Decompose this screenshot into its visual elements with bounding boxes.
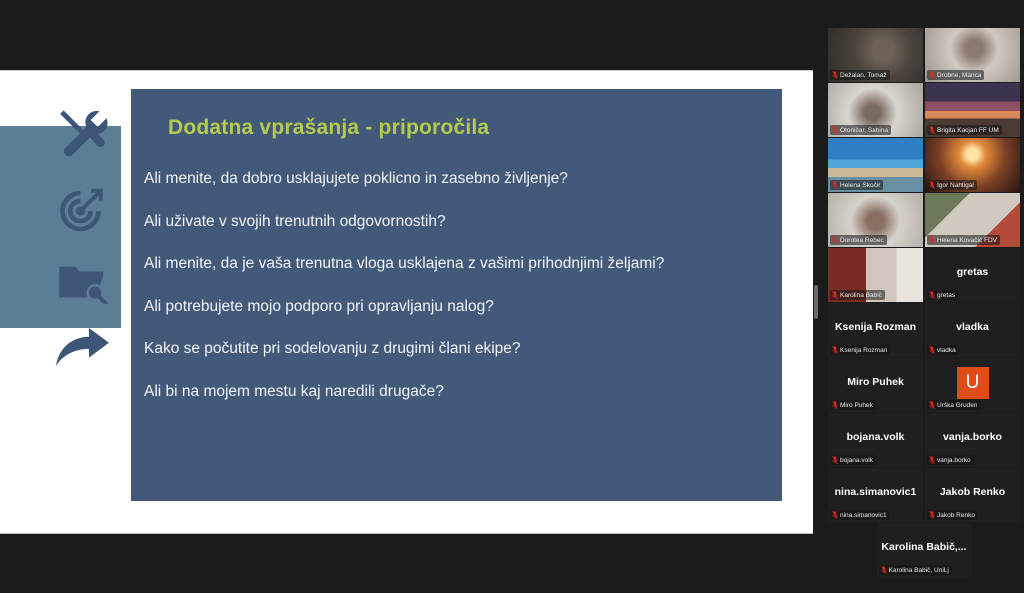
participant-name-label: Karolina Babič, UniLj bbox=[879, 565, 952, 575]
participant-name-text: Miro Puhek bbox=[840, 402, 873, 409]
participant-name-text: Jakob Renko bbox=[937, 512, 975, 519]
participant-tile[interactable]: Helena Skočir bbox=[828, 138, 923, 192]
slide-question: Ali bi na mojem mestu kaj naredili druga… bbox=[144, 384, 768, 400]
participant-name-text: vladka bbox=[937, 347, 956, 354]
participant-tile[interactable]: Karolina Babič bbox=[828, 248, 923, 302]
participant-tile[interactable]: Miro PuhekMiro Puhek bbox=[828, 358, 923, 412]
roster-row: Miro PuhekMiro PuhekUUrška Gruden bbox=[828, 358, 1020, 412]
roster-row: Helena SkočirIgor Nahtigal bbox=[828, 138, 1020, 192]
stage-top-divider bbox=[0, 70, 816, 71]
participant-tile[interactable]: gretasgretas bbox=[925, 248, 1020, 302]
shared-screen-stage: Dodatna vprašanja - priporočila Ali meni… bbox=[0, 70, 816, 534]
participant-name-label: Otoničar, Sabina bbox=[830, 125, 891, 135]
roster-row: bojana.volkbojana.volkvanja.borkovanja.b… bbox=[828, 413, 1020, 467]
participant-tile[interactable]: Brigita Kacjan FF UM bbox=[925, 83, 1020, 137]
participant-name-text: Ksenija Rozman bbox=[840, 347, 887, 354]
participant-tile[interactable]: vladkavladka bbox=[925, 303, 1020, 357]
participant-name-text: Drobne, Manca bbox=[937, 72, 981, 79]
mic-muted-icon bbox=[832, 71, 838, 79]
participant-name-text: Dežalan, Tomaž bbox=[840, 72, 887, 79]
participant-tile[interactable]: bojana.volkbojana.volk bbox=[828, 413, 923, 467]
mic-muted-icon bbox=[929, 346, 935, 354]
participant-name-text: Brigita Kacjan FF UM bbox=[937, 127, 999, 134]
participant-name-label: Helena Kovačič FDV bbox=[927, 235, 1000, 245]
mic-muted-icon bbox=[929, 126, 935, 134]
participant-tile[interactable]: Helena Kovačič FDV bbox=[925, 193, 1020, 247]
folder-search-icon bbox=[56, 260, 108, 304]
participant-name-label: Karolina Babič bbox=[830, 290, 885, 300]
participant-name-label: Dežalan, Tomaž bbox=[830, 70, 890, 80]
roster-row: Ksenija RozmanKsenija Rozmanvladkavladka bbox=[828, 303, 1020, 357]
slide-title: Dodatna vprašanja - priporočila bbox=[168, 116, 489, 140]
roster-row: nina.simanovic1nina.simanovic1Jakob Renk… bbox=[828, 468, 1020, 522]
participant-tile[interactable]: Otoničar, Sabina bbox=[828, 83, 923, 137]
roster-row: Dorotea RebecHelena Kovačič FDV bbox=[828, 193, 1020, 247]
participant-name-text: Dorotea Rebec bbox=[840, 237, 884, 244]
mic-muted-icon bbox=[832, 401, 838, 409]
participant-tile[interactable]: Igor Nahtigal bbox=[925, 138, 1020, 192]
mic-muted-icon bbox=[929, 456, 935, 464]
participant-tile[interactable]: nina.simanovic1nina.simanovic1 bbox=[828, 468, 923, 522]
participant-name-label: Helena Skočir bbox=[830, 180, 883, 190]
slide-question: Ali menite, da je vaša trenutna vloga us… bbox=[144, 256, 768, 272]
participant-name-label: nina.simanovic1 bbox=[830, 510, 890, 520]
participant-name-label: Ksenija Rozman bbox=[830, 345, 890, 355]
mic-muted-icon bbox=[929, 181, 935, 189]
participant-roster[interactable]: Dežalan, TomažDrobne, MancaOtoničar, Sab… bbox=[828, 28, 1020, 583]
participant-tile[interactable]: Jakob RenkoJakob Renko bbox=[925, 468, 1020, 522]
mic-muted-icon bbox=[929, 236, 935, 244]
participant-name-label: Drobne, Manca bbox=[927, 70, 984, 80]
mic-muted-icon bbox=[929, 71, 935, 79]
participant-name-label: Dorotea Rebec bbox=[830, 235, 887, 245]
slide-question-list: Ali menite, da dobro usklajujete poklicn… bbox=[144, 171, 768, 426]
slide-question: Kako se počutite pri sodelovanju z drugi… bbox=[144, 341, 768, 357]
mic-muted-icon bbox=[832, 456, 838, 464]
participant-name-label: bojana.volk bbox=[830, 455, 876, 465]
participant-name-text: Helena Kovačič FDV bbox=[937, 237, 997, 244]
participant-name-label: Urška Gruden bbox=[927, 400, 980, 410]
mic-muted-icon bbox=[832, 291, 838, 299]
participant-name-text: Otoničar, Sabina bbox=[840, 127, 888, 134]
participant-name-text: Karolina Babič, UniLj bbox=[889, 567, 949, 574]
roster-row: Otoničar, SabinaBrigita Kacjan FF UM bbox=[828, 83, 1020, 137]
mic-muted-icon bbox=[832, 126, 838, 134]
participant-name-label: Miro Puhek bbox=[830, 400, 876, 410]
participant-tile[interactable]: UUrška Gruden bbox=[925, 358, 1020, 412]
participant-tile[interactable]: Drobne, Manca bbox=[925, 28, 1020, 82]
mic-muted-icon bbox=[832, 511, 838, 519]
participant-name-label: Brigita Kacjan FF UM bbox=[927, 125, 1002, 135]
participant-tile[interactable]: Karolina Babič,...Karolina Babič, UniLj bbox=[877, 523, 972, 577]
mic-muted-icon bbox=[832, 181, 838, 189]
participant-name-label: vanja.borko bbox=[927, 455, 974, 465]
mic-muted-icon bbox=[832, 236, 838, 244]
stage-bottom-divider bbox=[0, 533, 816, 534]
roster-row: Karolina Babič,...Karolina Babič, UniLj bbox=[828, 523, 1020, 577]
participant-name-text: vanja.borko bbox=[937, 457, 971, 464]
participant-name-text: Urška Gruden bbox=[937, 402, 977, 409]
forward-arrow-icon bbox=[54, 328, 110, 368]
presentation-slide: Dodatna vprašanja - priporočila Ali meni… bbox=[131, 89, 782, 501]
participant-name-label: vladka bbox=[927, 345, 959, 355]
zoom-meeting-window: Dodatna vprašanja - priporočila Ali meni… bbox=[0, 0, 1024, 593]
participant-name-text: bojana.volk bbox=[840, 457, 873, 464]
tools-icon bbox=[54, 106, 110, 162]
participant-tile[interactable]: Ksenija RozmanKsenija Rozman bbox=[828, 303, 923, 357]
mic-muted-icon bbox=[929, 401, 935, 409]
participant-name-label: gretas bbox=[927, 290, 958, 300]
participant-name-text: Helena Skočir bbox=[840, 182, 880, 189]
participant-tile[interactable]: Dorotea Rebec bbox=[828, 193, 923, 247]
slide-question: Ali uživate v svojih trenutnih odgovorno… bbox=[144, 214, 768, 230]
slide-decor-icon-column bbox=[44, 106, 120, 368]
roster-row: Karolina Babičgretasgretas bbox=[828, 248, 1020, 302]
mic-muted-icon bbox=[832, 346, 838, 354]
participant-tile[interactable]: vanja.borkovanja.borko bbox=[925, 413, 1020, 467]
participant-name-text: Karolina Babič bbox=[840, 292, 882, 299]
participant-name-text: gretas bbox=[937, 292, 955, 299]
participant-name-label: Jakob Renko bbox=[927, 510, 978, 520]
roster-row: Dežalan, TomažDrobne, Manca bbox=[828, 28, 1020, 82]
participant-name-text: nina.simanovic1 bbox=[840, 512, 887, 519]
mic-muted-icon bbox=[929, 511, 935, 519]
mic-muted-icon bbox=[881, 566, 887, 574]
participant-tile[interactable]: Dežalan, Tomaž bbox=[828, 28, 923, 82]
participant-name-text: Igor Nahtigal bbox=[937, 182, 974, 189]
stage-scrollbar-thumb[interactable] bbox=[814, 285, 818, 319]
target-arrow-icon bbox=[57, 186, 107, 236]
mic-muted-icon bbox=[929, 291, 935, 299]
slide-question: Ali menite, da dobro usklajujete poklicn… bbox=[144, 171, 768, 187]
avatar: U bbox=[957, 367, 989, 399]
participant-name-label: Igor Nahtigal bbox=[927, 180, 977, 190]
slide-question: Ali potrebujete mojo podporo pri opravlj… bbox=[144, 299, 768, 315]
